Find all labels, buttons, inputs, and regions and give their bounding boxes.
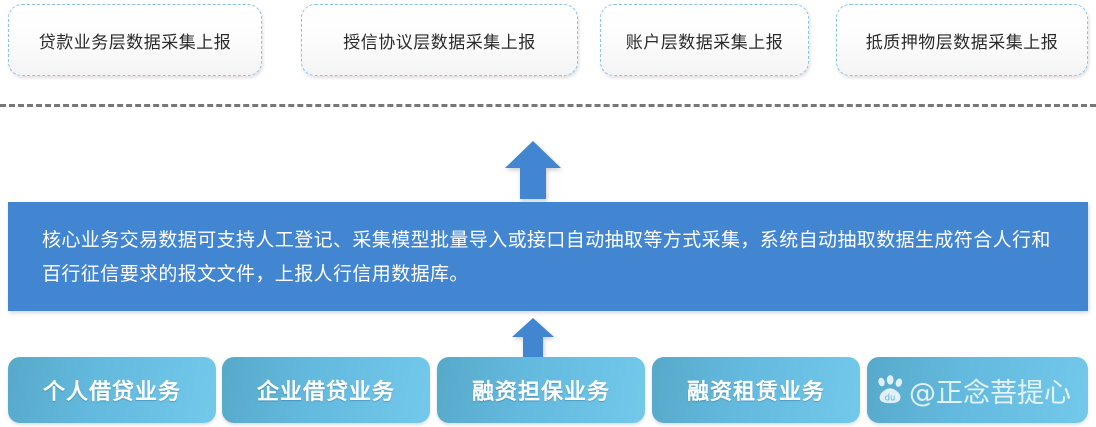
business-button-financial-leasing[interactable]: 融资租赁业务: [652, 357, 860, 423]
arrow-up-icon-large: [503, 139, 563, 201]
dashed-divider: [0, 104, 1096, 107]
top-card-collateral-layer[interactable]: 抵质押物层数据采集上报: [836, 4, 1088, 76]
svg-text:du: du: [885, 392, 896, 402]
info-band: 核心业务交易数据可支持人工登记、采集模型批量导入或接口自动抽取等方式采集，系统自…: [8, 202, 1088, 311]
business-button-enterprise-lending[interactable]: 企业借贷业务: [222, 357, 430, 423]
business-type-row: 个人借贷业务 企业借贷业务 融资担保业务 融资租赁业务 du @正念菩提心: [0, 357, 1096, 423]
diagram-canvas: 贷款业务层数据采集上报 授信协议层数据采集上报 账户层数据采集上报 抵质押物层数…: [0, 0, 1096, 427]
top-card-account-layer[interactable]: 账户层数据采集上报: [600, 4, 809, 76]
watermark-text: @正念菩提心: [909, 371, 1071, 410]
top-card-loan-business-layer[interactable]: 贷款业务层数据采集上报: [8, 4, 262, 76]
business-button-label: 融资租赁业务: [687, 374, 825, 406]
top-card-label: 授信协议层数据采集上报: [343, 28, 536, 53]
info-band-text: 核心业务交易数据可支持人工登记、采集模型批量导入或接口自动抽取等方式采集，系统自…: [8, 223, 1088, 291]
business-button-label: 个人借贷业务: [43, 374, 181, 406]
top-card-label: 账户层数据采集上报: [626, 28, 784, 53]
watermark-content: du @正念菩提心: [875, 371, 1071, 410]
data-collection-layer-row: 贷款业务层数据采集上报 授信协议层数据采集上报 账户层数据采集上报 抵质押物层数…: [0, 4, 1096, 78]
arrow-up-icon-small: [510, 316, 556, 360]
baidu-paw-icon: du: [875, 375, 905, 405]
top-card-label: 贷款业务层数据采集上报: [39, 28, 232, 53]
business-button-label: 融资担保业务: [472, 374, 610, 406]
business-button-personal-lending[interactable]: 个人借贷业务: [8, 357, 216, 423]
top-card-credit-agreement-layer[interactable]: 授信协议层数据采集上报: [301, 4, 578, 76]
business-button-financing-guarantee[interactable]: 融资担保业务: [437, 357, 645, 423]
watermark-overlay: du @正念菩提心: [867, 357, 1088, 423]
business-button-label: 企业借贷业务: [257, 374, 395, 406]
top-card-label: 抵质押物层数据采集上报: [866, 28, 1059, 53]
